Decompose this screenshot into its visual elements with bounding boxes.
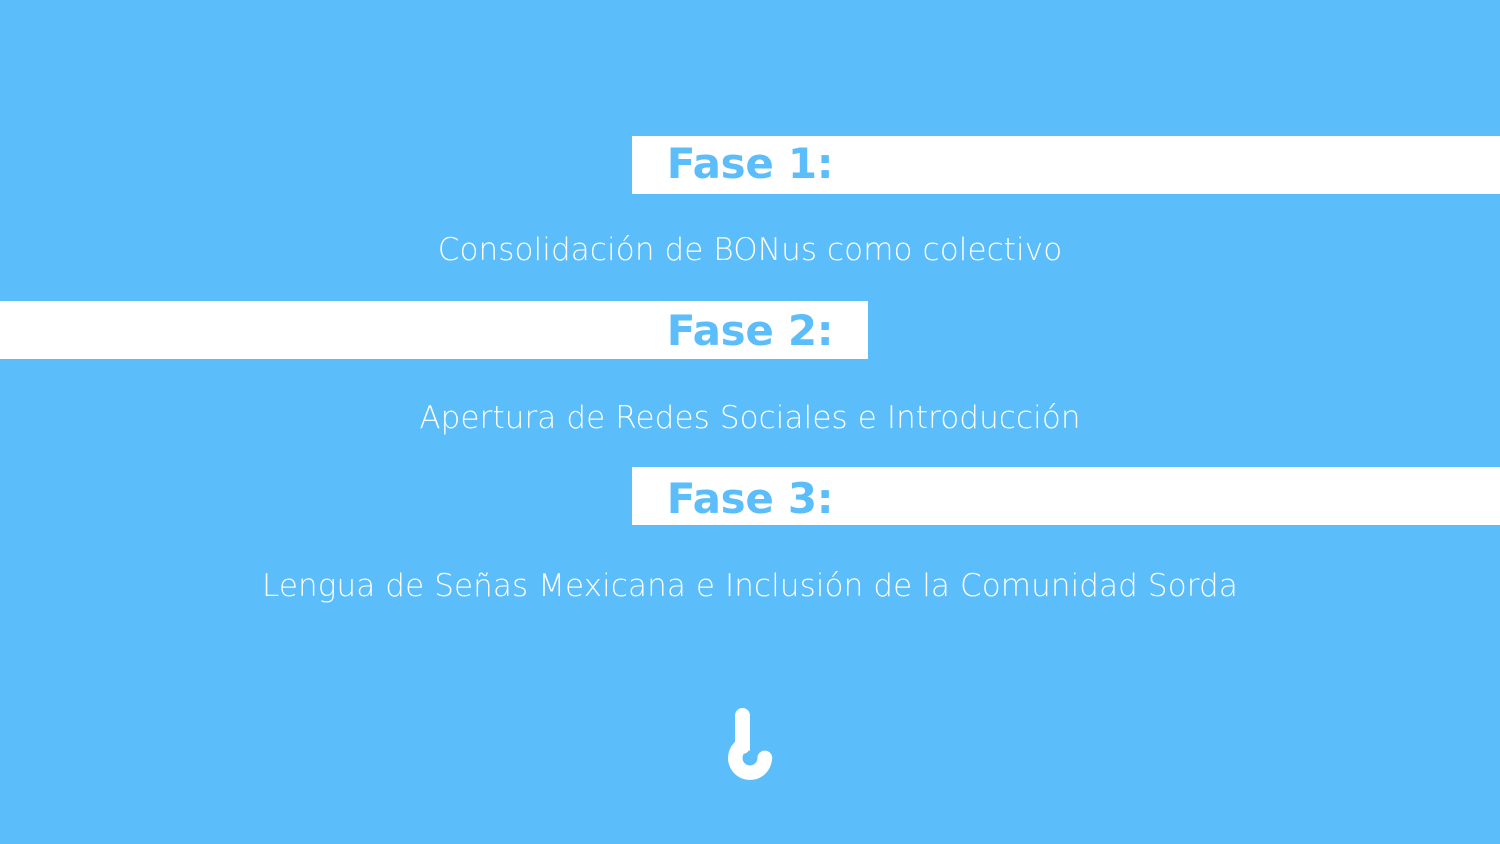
phase-title-3: Fase 3: — [0, 478, 1500, 520]
phase-description-2: Apertura de Redes Sociales e Introducció… — [0, 403, 1500, 434]
phase-description-1: Consolidación de BONus como colectivo — [0, 235, 1500, 266]
logo-container — [0, 706, 1500, 784]
letter-b-logo-icon — [724, 706, 776, 784]
presentation-slide: Fase 1: Consolidación de BONus como cole… — [0, 0, 1500, 844]
phase-description-3: Lengua de Señas Mexicana e Inclusión de … — [0, 571, 1500, 602]
phase-title-1: Fase 1: — [0, 143, 1500, 185]
phase-title-2: Fase 2: — [0, 310, 1500, 352]
